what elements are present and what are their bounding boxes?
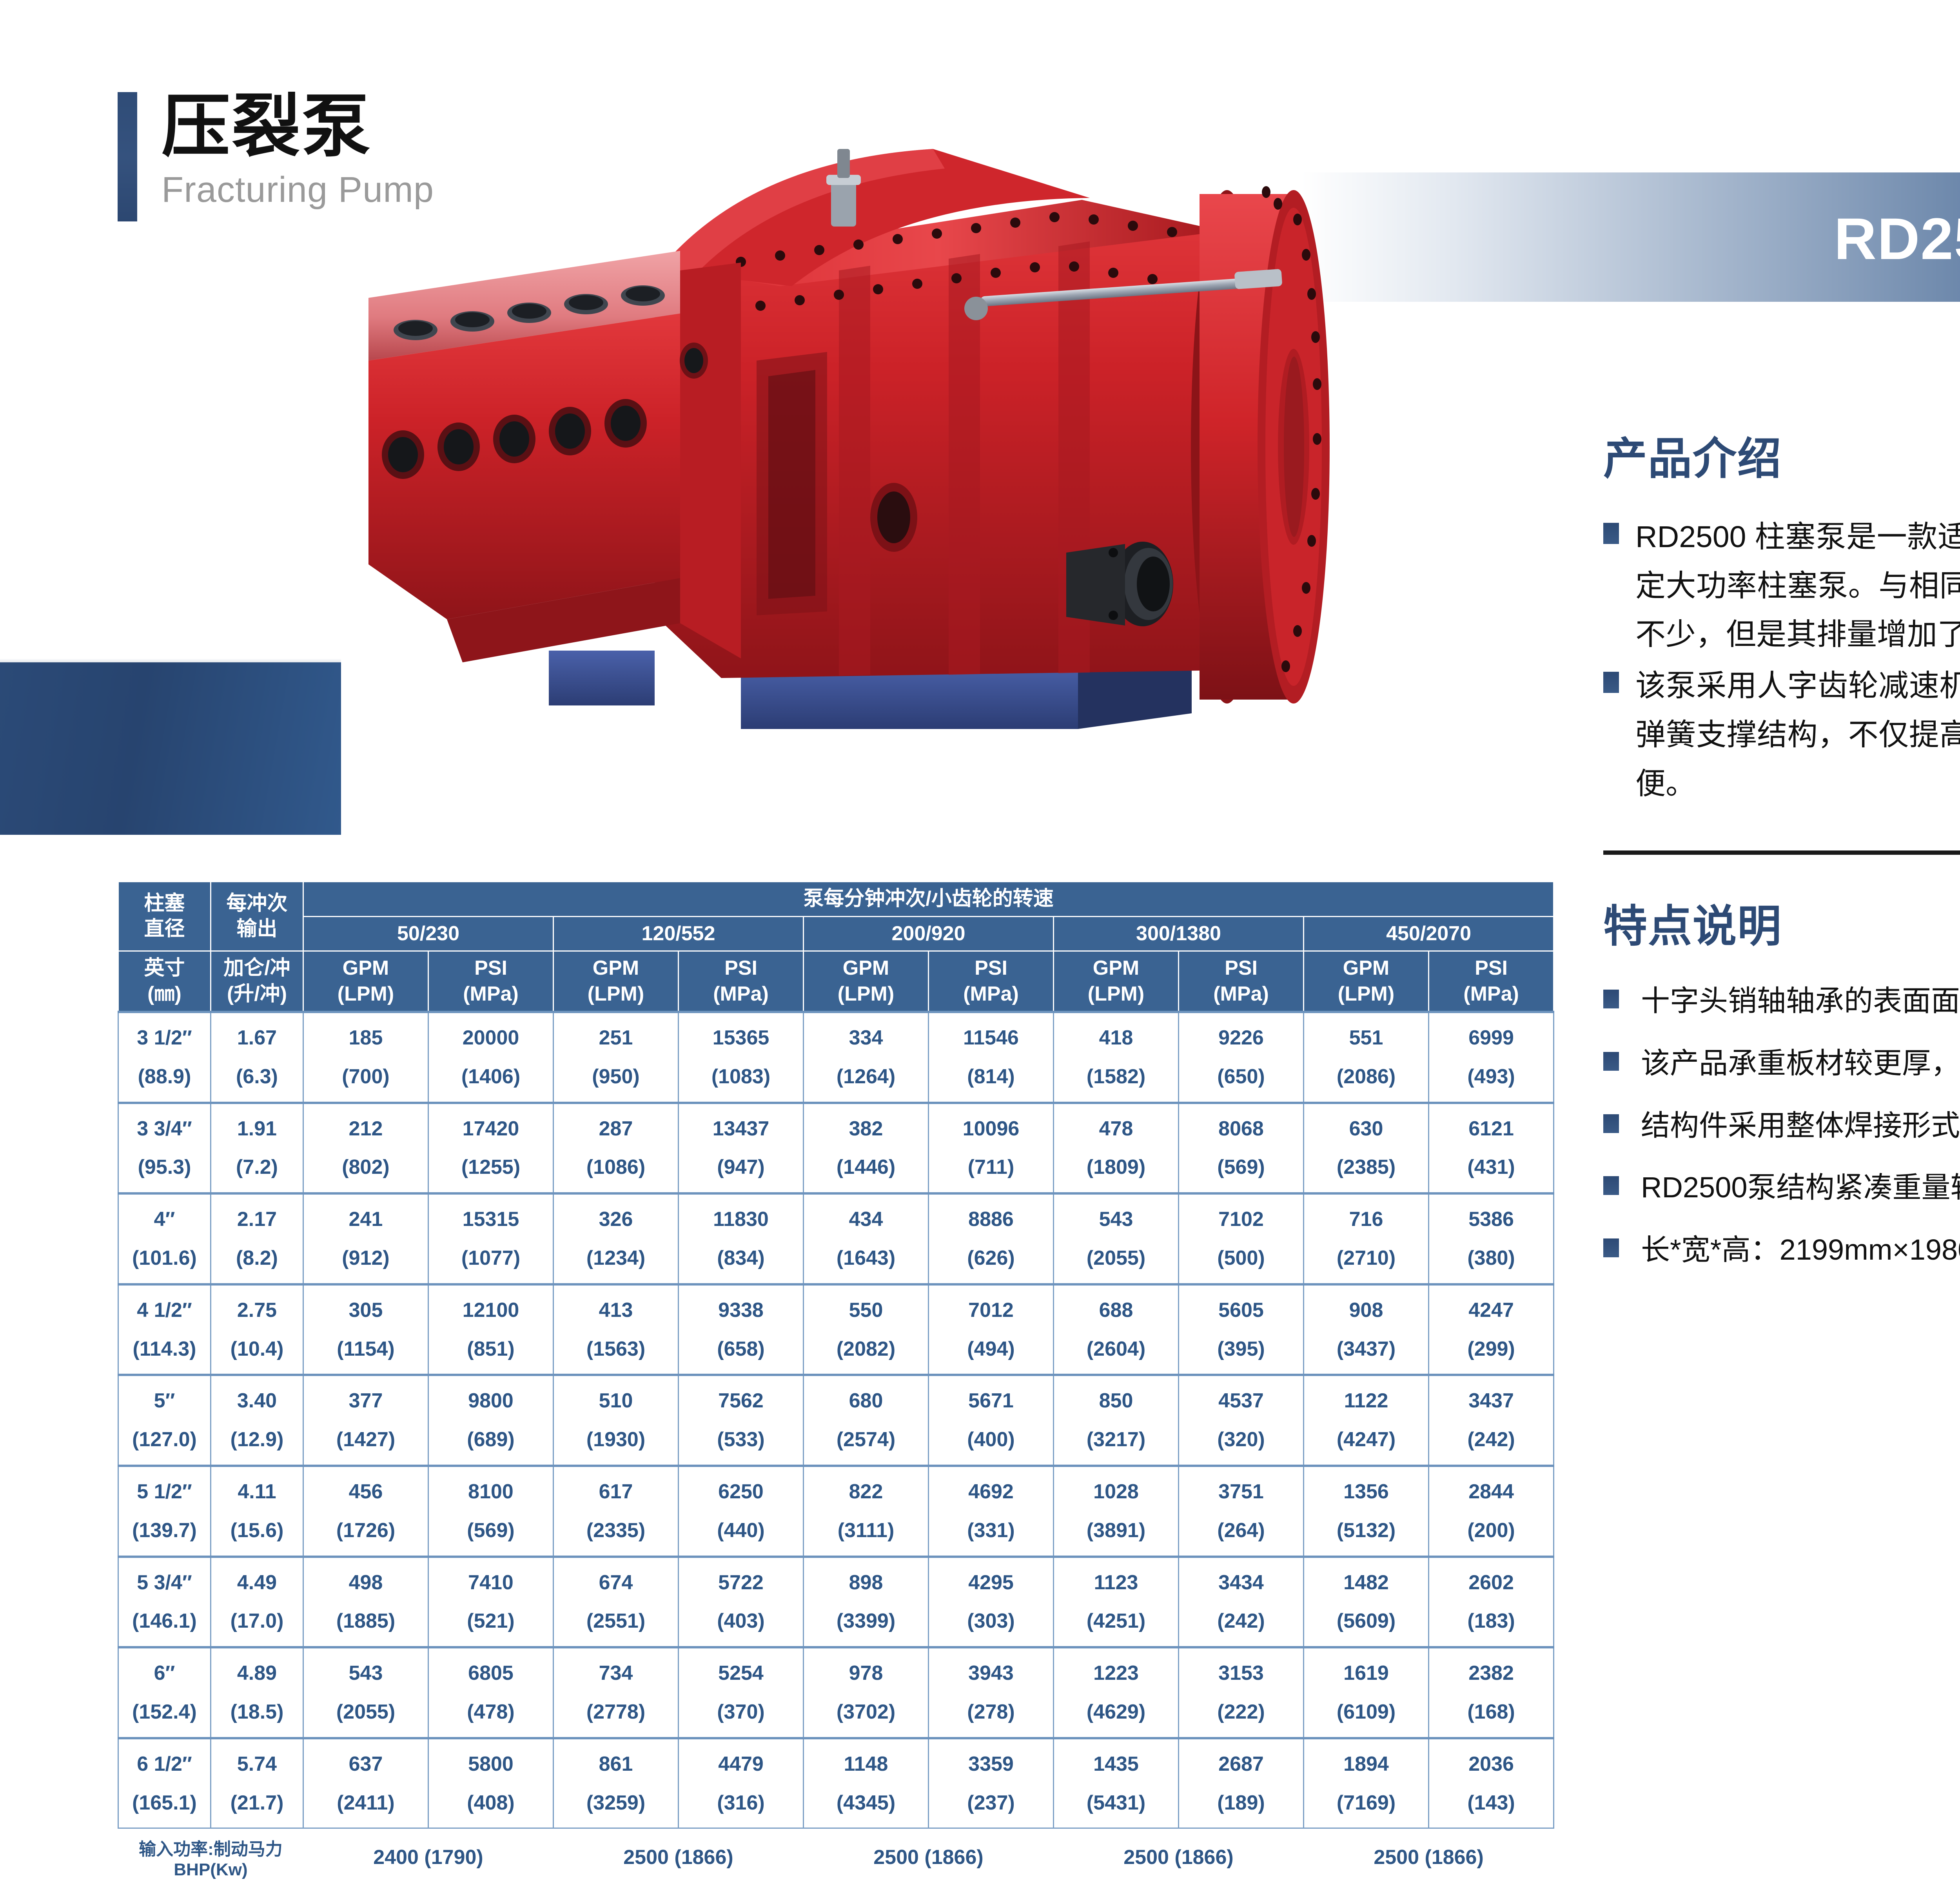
- cell-psi-3: 3434(242): [1179, 1557, 1304, 1648]
- intro-bullet-2: 该泵采用人字齿轮减速机构，其运行同样平稳可靠。液力端的新式弹簧支撑结构，不仅提高…: [1603, 662, 1960, 808]
- feature-item: 该产品承重板材较更厚，设计更为牢固。: [1603, 1043, 1960, 1084]
- square-bullet-icon: [1603, 1176, 1619, 1195]
- cell-output-per-stroke: 1.67(6.3): [211, 1012, 303, 1103]
- cell-gpm-0: 185(700): [303, 1012, 428, 1103]
- th-plunger-diameter: 柱塞 直径: [118, 882, 211, 951]
- table-row: 4″(101.6)2.17(8.2)241(912)15315(1077)326…: [118, 1193, 1554, 1284]
- specification-table-wrapper: 柱塞 直径 每冲次 输出 泵每分钟冲次/小齿轮的转速 50/230 120/55…: [118, 881, 1554, 1887]
- footer-value-4: 2500 (1866): [1304, 1828, 1554, 1887]
- features-heading: 特点说明: [1603, 891, 1960, 954]
- cell-psi-2: 3943(278): [929, 1647, 1054, 1738]
- cell-psi-1: 7562(533): [679, 1375, 804, 1466]
- cell-gpm-4: 551(2086): [1304, 1012, 1429, 1103]
- cell-plunger-diameter: 4″(101.6): [118, 1193, 211, 1284]
- cell-output-per-stroke: 4.89(18.5): [211, 1647, 303, 1738]
- cell-psi-0: 6805(478): [428, 1647, 554, 1738]
- cell-gpm-2: 978(3702): [804, 1647, 929, 1738]
- cell-output-per-stroke: 2.75(10.4): [211, 1284, 303, 1375]
- th-speed-0: 50/230: [303, 916, 554, 951]
- feature-item-text: 结构件采用整体焊接形式。: [1641, 1105, 1960, 1147]
- feature-item: 长*宽*高：2199mm×1980mm×1113mm。: [1603, 1229, 1960, 1271]
- square-bullet-icon: [1603, 1052, 1619, 1071]
- footer-value-0: 2400 (1790): [303, 1828, 554, 1887]
- cell-psi-3: 4537(320): [1179, 1375, 1304, 1466]
- cell-output-per-stroke: 5.74(21.7): [211, 1738, 303, 1828]
- intro-bullet-2-text: 该泵采用人字齿轮减速机构，其运行同样平稳可靠。液力端的新式弹簧支撑结构，不仅提高…: [1635, 662, 1960, 808]
- th-speed-3: 300/1380: [1054, 916, 1304, 951]
- cell-psi-0: 17420(1255): [428, 1103, 554, 1194]
- cell-psi-3: 8068(569): [1179, 1103, 1304, 1194]
- cell-gpm-2: 822(3111): [804, 1466, 929, 1557]
- cell-gpm-4: 1619(6109): [1304, 1647, 1429, 1738]
- th-unit-psi-0: PSI (MPa): [428, 951, 554, 1012]
- cell-output-per-stroke: 1.91(7.2): [211, 1103, 303, 1194]
- cell-gpm-0: 456(1726): [303, 1466, 428, 1557]
- title-accent-bar: [118, 92, 137, 221]
- cell-psi-0: 7410(521): [428, 1557, 554, 1648]
- cell-gpm-2: 382(1446): [804, 1103, 929, 1194]
- table-row: 3 3/4″(95.3)1.91(7.2)212(802)17420(1255)…: [118, 1103, 1554, 1194]
- intro-bullet-1-text: RD2500 柱塞泵是一款适用于油田压裂、固井、防砂、酸化作业额定大功率柱塞泵。…: [1635, 513, 1960, 659]
- pump-product-image: [259, 102, 1505, 843]
- table-row: 5 3/4″(146.1)4.49(17.0)498(1885)7410(521…: [118, 1557, 1554, 1648]
- cell-psi-2: 5671(400): [929, 1375, 1054, 1466]
- cell-psi-4: 2602(183): [1429, 1557, 1554, 1648]
- cell-psi-1: 6250(440): [679, 1466, 804, 1557]
- cell-psi-1: 15365(1083): [679, 1012, 804, 1103]
- cell-gpm-1: 510(1930): [554, 1375, 679, 1466]
- cell-psi-4: 6999(493): [1429, 1012, 1554, 1103]
- cell-psi-4: 2382(168): [1429, 1647, 1554, 1738]
- cell-psi-2: 4692(331): [929, 1466, 1054, 1557]
- cell-plunger-diameter: 6″(152.4): [118, 1647, 211, 1738]
- table-row: 5 1/2″(139.7)4.11(15.6)456(1726)8100(569…: [118, 1466, 1554, 1557]
- th-speed-group-header: 泵每分钟冲次/小齿轮的转速: [303, 882, 1554, 917]
- cell-gpm-3: 688(2604): [1054, 1284, 1179, 1375]
- cell-psi-3: 2687(189): [1179, 1738, 1304, 1828]
- cell-gpm-3: 418(1582): [1054, 1012, 1179, 1103]
- th-unit-psi-2: PSI (MPa): [929, 951, 1054, 1012]
- cell-psi-4: 5386(380): [1429, 1193, 1554, 1284]
- cell-gpm-4: 1356(5132): [1304, 1466, 1429, 1557]
- table-row: 6″(152.4)4.89(18.5)543(2055)6805(478)734…: [118, 1647, 1554, 1738]
- cell-psi-2: 11546(814): [929, 1012, 1054, 1103]
- cell-psi-3: 3751(264): [1179, 1466, 1304, 1557]
- cell-psi-1: 9338(658): [679, 1284, 804, 1375]
- pump-inspection-port: [870, 483, 917, 552]
- intro-bullet-1: RD2500 柱塞泵是一款适用于油田压裂、固井、防砂、酸化作业额定大功率柱塞泵。…: [1603, 513, 1960, 659]
- cell-psi-3: 3153(222): [1179, 1647, 1304, 1738]
- cell-gpm-0: 637(2411): [303, 1738, 428, 1828]
- cell-psi-4: 6121(431): [1429, 1103, 1554, 1194]
- cell-output-per-stroke: 4.49(17.0): [211, 1557, 303, 1648]
- cell-gpm-3: 1028(3891): [1054, 1466, 1179, 1557]
- cell-psi-4: 2844(200): [1429, 1466, 1554, 1557]
- square-bullet-icon: [1603, 523, 1619, 544]
- cell-psi-1: 5254(370): [679, 1647, 804, 1738]
- table-header-row-3-units: 英寸 (㎜) 加仑/冲 (升/冲) GPM (LPM) PSI (MPa): [118, 951, 1554, 1012]
- cell-gpm-0: 377(1427): [303, 1375, 428, 1466]
- th-unit-psi-3: PSI (MPa): [1179, 951, 1304, 1012]
- cell-gpm-2: 1148(4345): [804, 1738, 929, 1828]
- cell-psi-2: 3359(237): [929, 1738, 1054, 1828]
- section-divider: [1603, 850, 1960, 855]
- th-output-per-stroke: 每冲次 输出: [211, 882, 303, 951]
- cell-psi-3: 9226(650): [1179, 1012, 1304, 1103]
- brochure-page: 压裂泵 Fracturing Pump RD2500泵: [0, 0, 1960, 1902]
- cell-gpm-1: 861(3259): [554, 1738, 679, 1828]
- cell-psi-2: 4295(303): [929, 1557, 1054, 1648]
- table-footer-row: 输入功率:制动马力 BHP(Kw) 2400 (1790) 2500 (1866…: [118, 1828, 1554, 1887]
- cell-gpm-1: 734(2778): [554, 1647, 679, 1738]
- cell-gpm-3: 1435(5431): [1054, 1738, 1179, 1828]
- cell-gpm-4: 1482(5609): [1304, 1557, 1429, 1648]
- cell-psi-1: 4479(316): [679, 1738, 804, 1828]
- th-speed-4: 450/2070: [1304, 916, 1554, 951]
- cell-psi-4: 4247(299): [1429, 1284, 1554, 1375]
- square-bullet-icon: [1603, 1114, 1619, 1133]
- th-speed-1: 120/552: [554, 916, 804, 951]
- cell-gpm-3: 1123(4251): [1054, 1557, 1179, 1648]
- cell-gpm-4: 908(3437): [1304, 1284, 1429, 1375]
- cell-gpm-0: 543(2055): [303, 1647, 428, 1738]
- table-header-row-1: 柱塞 直径 每冲次 输出 泵每分钟冲次/小齿轮的转速: [118, 882, 1554, 917]
- cell-gpm-2: 550(2082): [804, 1284, 929, 1375]
- cell-psi-4: 3437(242): [1429, 1375, 1554, 1466]
- table-row: 6 1/2″(165.1)5.74(21.7)637(2411)5800(408…: [118, 1738, 1554, 1828]
- footer-value-2: 2500 (1866): [804, 1828, 1054, 1887]
- cell-psi-0: 8100(569): [428, 1466, 554, 1557]
- square-bullet-icon: [1603, 990, 1619, 1008]
- cell-output-per-stroke: 2.17(8.2): [211, 1193, 303, 1284]
- feature-item: 十字头销轴轴承的表面面积比。: [1603, 980, 1960, 1022]
- cell-plunger-diameter: 3 1/2″(88.9): [118, 1012, 211, 1103]
- cell-psi-0: 12100(851): [428, 1284, 554, 1375]
- specification-table: 柱塞 直径 每冲次 输出 泵每分钟冲次/小齿轮的转速 50/230 120/55…: [118, 881, 1554, 1887]
- cell-plunger-diameter: 5 3/4″(146.1): [118, 1557, 211, 1648]
- cell-gpm-3: 478(1809): [1054, 1103, 1179, 1194]
- feature-item: RD2500泵结构紧凑重量轻，重量约6760kg。: [1603, 1167, 1960, 1209]
- cell-psi-0: 5800(408): [428, 1738, 554, 1828]
- right-content-column: 产品介绍 RD2500 柱塞泵是一款适用于油田压裂、固井、防砂、酸化作业额定大功…: [1603, 423, 1960, 1291]
- table-foot: 输入功率:制动马力 BHP(Kw) 2400 (1790) 2500 (1866…: [118, 1828, 1554, 1887]
- th-speed-2: 200/920: [804, 916, 1054, 951]
- th-unit-psi-1: PSI (MPa): [679, 951, 804, 1012]
- th-unit-gpm-3: GPM (LPM): [1054, 951, 1179, 1012]
- cell-plunger-diameter: 4 1/2″(114.3): [118, 1284, 211, 1375]
- cell-gpm-1: 674(2551): [554, 1557, 679, 1648]
- feature-item-text: 该产品承重板材较更厚，设计更为牢固。: [1641, 1043, 1960, 1084]
- cell-gpm-2: 898(3399): [804, 1557, 929, 1648]
- cell-plunger-diameter: 3 3/4″(95.3): [118, 1103, 211, 1194]
- cell-gpm-0: 498(1885): [303, 1557, 428, 1648]
- feature-item-text: 长*宽*高：2199mm×1980mm×1113mm。: [1641, 1229, 1960, 1271]
- cell-psi-2: 7012(494): [929, 1284, 1054, 1375]
- table-row: 3 1/2″(88.9)1.67(6.3)185(700)20000(1406)…: [118, 1012, 1554, 1103]
- feature-item-text: 十字头销轴轴承的表面面积比。: [1641, 980, 1960, 1022]
- cell-gpm-2: 434(1643): [804, 1193, 929, 1284]
- cell-gpm-4: 1122(4247): [1304, 1375, 1429, 1466]
- cell-plunger-diameter: 6 1/2″(165.1): [118, 1738, 211, 1828]
- cell-gpm-4: 630(2385): [1304, 1103, 1429, 1194]
- intro-heading: 产品介绍: [1603, 423, 1960, 487]
- cell-psi-2: 8886(626): [929, 1193, 1054, 1284]
- cell-psi-3: 5605(395): [1179, 1284, 1304, 1375]
- cell-output-per-stroke: 4.11(15.6): [211, 1466, 303, 1557]
- table-body: 3 1/2″(88.9)1.67(6.3)185(700)20000(1406)…: [118, 1012, 1554, 1828]
- th-unit-gpm-4: GPM (LPM): [1304, 951, 1429, 1012]
- cell-gpm-1: 251(950): [554, 1012, 679, 1103]
- th-unit-gpm-0: GPM (LPM): [303, 951, 428, 1012]
- cell-gpm-1: 617(2335): [554, 1466, 679, 1557]
- cell-plunger-diameter: 5″(127.0): [118, 1375, 211, 1466]
- pump-fluid-end: [368, 251, 680, 662]
- feature-item: 结构件采用整体焊接形式。: [1603, 1105, 1960, 1147]
- cell-psi-1: 13437(947): [679, 1103, 804, 1194]
- cell-gpm-0: 241(912): [303, 1193, 428, 1284]
- th-unit-gpm-1: GPM (LPM): [554, 951, 679, 1012]
- cell-gpm-1: 413(1563): [554, 1284, 679, 1375]
- cell-gpm-2: 680(2574): [804, 1375, 929, 1466]
- cell-plunger-diameter: 5 1/2″(139.7): [118, 1466, 211, 1557]
- pump-end-drum: [1191, 186, 1330, 704]
- cell-gpm-3: 1223(4629): [1054, 1647, 1179, 1738]
- cell-psi-1: 11830(834): [679, 1193, 804, 1284]
- footer-label: 输入功率:制动马力 BHP(Kw): [118, 1828, 303, 1887]
- footer-value-1: 2500 (1866): [554, 1828, 804, 1887]
- th-unit-inch: 英寸 (㎜): [118, 951, 211, 1012]
- square-bullet-icon: [1603, 672, 1619, 693]
- table-row: 5″(127.0)3.40(12.9)377(1427)9800(689)510…: [118, 1375, 1554, 1466]
- cell-gpm-0: 305(1154): [303, 1284, 428, 1375]
- banner-product-name: RD2500泵: [1834, 191, 1960, 276]
- th-unit-psi-4: PSI (MPa): [1429, 951, 1554, 1012]
- cell-gpm-4: 1894(7169): [1304, 1738, 1429, 1828]
- cell-gpm-0: 212(802): [303, 1103, 428, 1194]
- table-row: 4 1/2″(114.3)2.75(10.4)305(1154)12100(85…: [118, 1284, 1554, 1375]
- cell-gpm-1: 326(1234): [554, 1193, 679, 1284]
- square-bullet-icon: [1603, 1238, 1619, 1257]
- cell-gpm-4: 716(2710): [1304, 1193, 1429, 1284]
- cell-psi-3: 7102(500): [1179, 1193, 1304, 1284]
- table-header-row-2: 50/230 120/552 200/920 300/1380 450/2070: [118, 916, 1554, 951]
- cell-gpm-2: 334(1264): [804, 1012, 929, 1103]
- cell-psi-4: 2036(143): [1429, 1738, 1554, 1828]
- pump-discharge-flange: [1066, 542, 1173, 626]
- cell-psi-2: 10096(711): [929, 1103, 1054, 1194]
- table-head: 柱塞 直径 每冲次 输出 泵每分钟冲次/小齿轮的转速 50/230 120/55…: [118, 882, 1554, 1012]
- th-unit-gallon: 加仑/冲 (升/冲): [211, 951, 303, 1012]
- cell-gpm-1: 287(1086): [554, 1103, 679, 1194]
- cell-psi-0: 9800(689): [428, 1375, 554, 1466]
- footer-value-3: 2500 (1866): [1054, 1828, 1304, 1887]
- cell-psi-0: 15315(1077): [428, 1193, 554, 1284]
- cell-output-per-stroke: 3.40(12.9): [211, 1375, 303, 1466]
- cell-psi-0: 20000(1406): [428, 1012, 554, 1103]
- th-unit-gpm-2: GPM (LPM): [804, 951, 929, 1012]
- feature-item-text: RD2500泵结构紧凑重量轻，重量约6760kg。: [1641, 1167, 1960, 1209]
- cell-psi-1: 5722(403): [679, 1557, 804, 1648]
- cell-gpm-3: 543(2055): [1054, 1193, 1179, 1284]
- cell-gpm-3: 850(3217): [1054, 1375, 1179, 1466]
